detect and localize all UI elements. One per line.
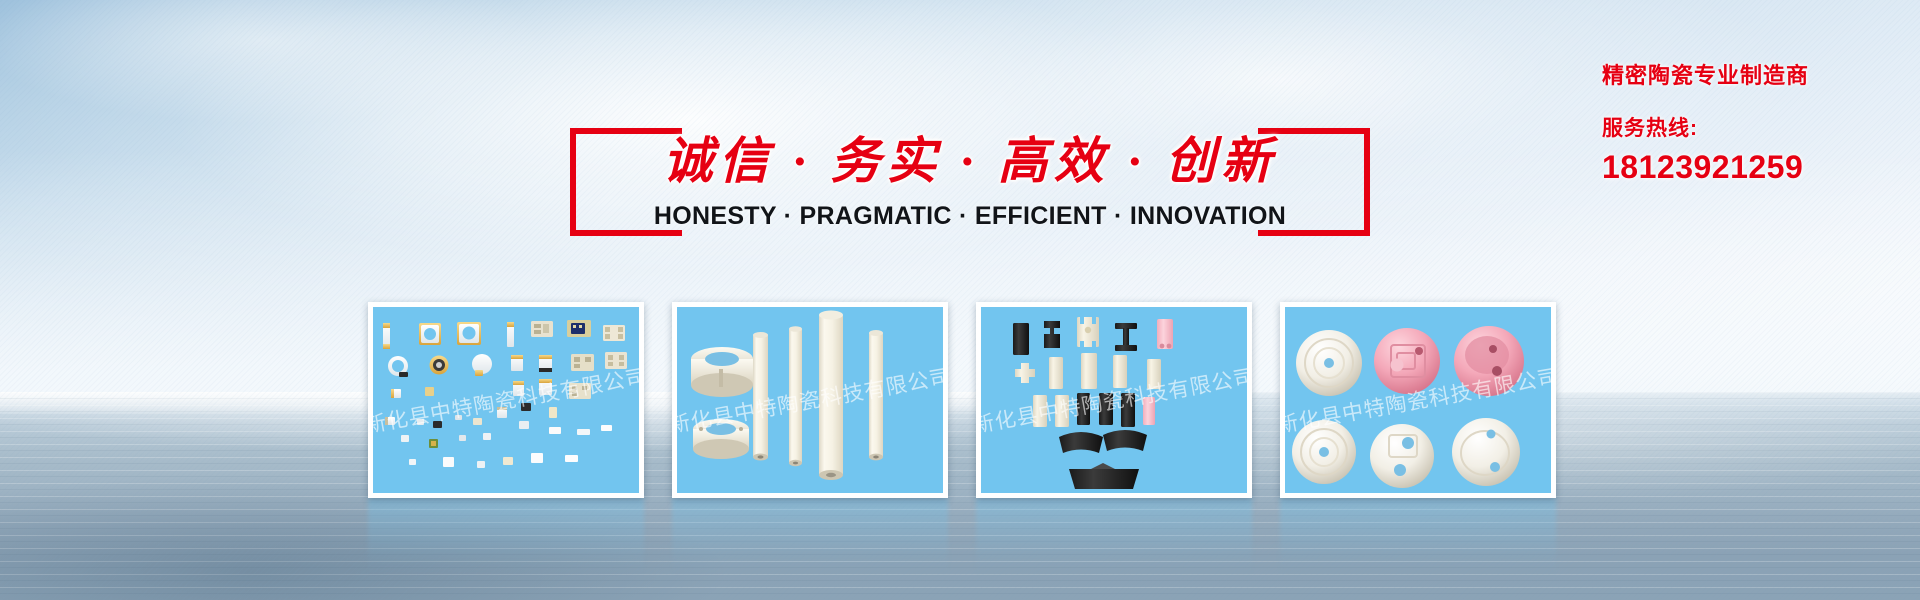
product-panel-ceramic-discs[interactable]: 新化县中特陶瓷科技有限公司 bbox=[1280, 302, 1556, 498]
panel-reflection bbox=[672, 498, 948, 576]
slogan-block: 诚信 · 务实 · 高效 · 创新 HONESTY · PRAGMATIC · … bbox=[570, 128, 1370, 248]
product-panel-ceramic-tubes[interactable]: 新化县中特陶瓷科技有限公司 bbox=[672, 302, 948, 498]
panel-image-ceramic-blocks: 新化县中特陶瓷科技有限公司 bbox=[981, 307, 1247, 493]
panel-image-ceramic-discs: 新化县中特陶瓷科技有限公司 bbox=[1285, 307, 1551, 493]
panel-image-ceramic-tubes: 新化县中特陶瓷科技有限公司 bbox=[677, 307, 943, 493]
product-gallery: 新化县中特陶瓷科技有限公司 bbox=[368, 302, 1596, 498]
hotline-label: 服务热线: bbox=[1602, 112, 1872, 142]
slogan-chinese: 诚信 · 务实 · 高效 · 创新 bbox=[570, 130, 1370, 192]
product-panel-ceramic-blocks[interactable]: 新化县中特陶瓷科技有限公司 bbox=[976, 302, 1252, 498]
panel-reflections bbox=[368, 498, 1596, 576]
contact-block: 精密陶瓷专业制造商 服务热线: 18123921259 bbox=[1602, 58, 1872, 186]
panel-image-smd-components: 新化县中特陶瓷科技有限公司 bbox=[373, 307, 639, 493]
company-tagline: 精密陶瓷专业制造商 bbox=[1602, 58, 1872, 90]
product-panel-smd-components[interactable]: 新化县中特陶瓷科技有限公司 bbox=[368, 302, 644, 498]
panel-reflection bbox=[368, 498, 644, 576]
promotional-banner: 诚信 · 务实 · 高效 · 创新 HONESTY · PRAGMATIC · … bbox=[0, 0, 1920, 600]
hotline-phone-number[interactable]: 18123921259 bbox=[1602, 149, 1872, 186]
slogan-english: HONESTY · PRAGMATIC · EFFICIENT · INNOVA… bbox=[540, 202, 1400, 231]
panel-reflection bbox=[1280, 498, 1556, 576]
panel-reflection bbox=[976, 498, 1252, 576]
